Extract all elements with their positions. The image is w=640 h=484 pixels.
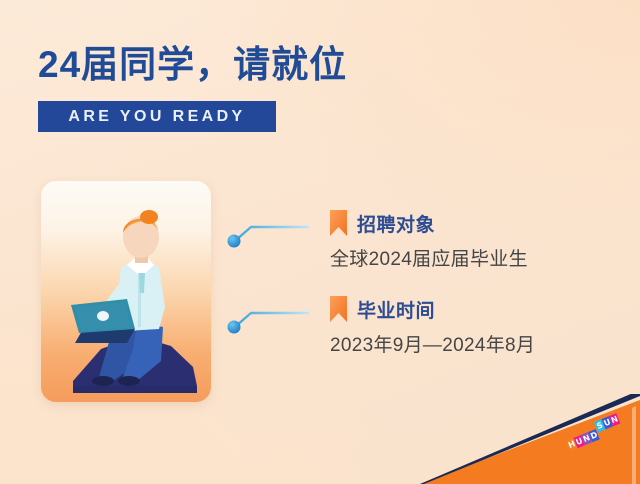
- are-you-ready-label: ARE YOU READY: [68, 108, 245, 126]
- orange-corner-shape: [420, 394, 640, 484]
- info-text-block: 招聘对象 全球2024届应届毕业生: [330, 208, 630, 271]
- illustration-card: [41, 181, 211, 402]
- bookmark-icon: [330, 210, 347, 236]
- info-heading-row: 毕业时间: [330, 294, 630, 324]
- info-heading-row: 招聘对象: [330, 208, 630, 238]
- corner-wedge: [420, 394, 640, 484]
- are-you-ready-badge: ARE YOU READY: [38, 101, 276, 132]
- hundsun-logo: H U N D S U N: [566, 420, 623, 452]
- info-item-description: 2023年9月—2024年8月: [330, 330, 630, 357]
- recruitment-poster: 24届同学，请就位 ARE YOU READY: [0, 0, 640, 484]
- info-item-description: 全球2024届应届毕业生: [330, 244, 630, 271]
- logo-word-sun: S U N: [594, 413, 620, 432]
- info-text-block: 毕业时间 2023年9月—2024年8月: [330, 294, 630, 357]
- info-item-recruitment-target: 招聘对象 全球2024届应届毕业生: [226, 208, 626, 294]
- bookmark-icon: [330, 296, 347, 322]
- info-list: 招聘对象 全球2024届应届毕业生: [226, 208, 626, 380]
- info-item-title: 招聘对象: [357, 210, 435, 237]
- connector-line-icon: [226, 308, 310, 334]
- info-item-title: 毕业时间: [357, 296, 435, 323]
- info-item-graduation-time: 毕业时间 2023年9月—2024年8月: [226, 294, 626, 380]
- logo-word-hund: H U N D: [566, 429, 600, 451]
- connector-line-icon: [226, 222, 310, 248]
- page-title: 24届同学，请就位: [38, 44, 347, 87]
- person-working-on-laptop-illustration: [41, 181, 211, 402]
